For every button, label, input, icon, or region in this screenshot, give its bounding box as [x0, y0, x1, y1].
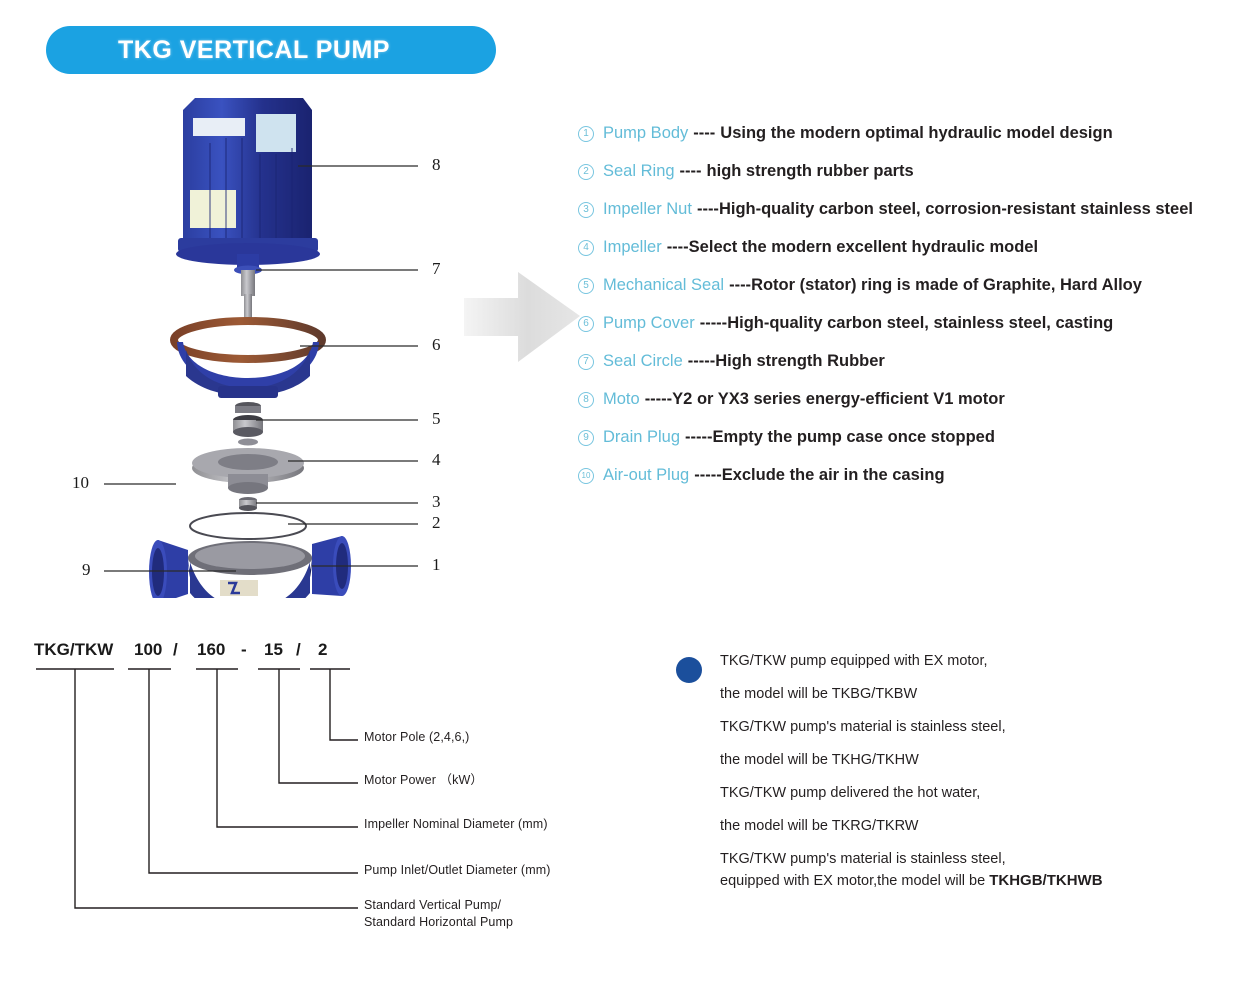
part-motor — [176, 98, 320, 265]
legend-separator-2: ---- — [680, 162, 702, 181]
callout-7: 7 — [432, 259, 441, 279]
page-title-banner: TKG VERTICAL PUMP — [46, 26, 496, 74]
legend-description-6: High-quality carbon steel, stainless ste… — [727, 314, 1113, 333]
legend-part-name-9: Drain Plug — [603, 428, 680, 447]
model-label-impeller-dia: Impeller Nominal Diameter (mm) — [364, 815, 548, 833]
note-line-8-prefix: equipped with EX motor,the model will be — [720, 873, 989, 889]
legend-item-pump-body: 1 Pump Body ---- Using the modern optima… — [578, 124, 1228, 144]
legend-number-icon-2: 2 — [578, 164, 594, 180]
part-pump-body — [149, 536, 351, 598]
callout-8: 8 — [432, 155, 441, 175]
legend-separator-3: ---- — [697, 200, 719, 219]
legend-part-name-2: Seal Ring — [603, 162, 675, 181]
legend-description-9: Empty the pump case once stopped — [713, 428, 995, 447]
legend-description-2: high strength rubber parts — [707, 162, 914, 181]
legend-item-seal-ring: 2 Seal Ring ---- high strength rubber pa… — [578, 162, 1228, 182]
legend-description-10: Exclude the air in the casing — [722, 466, 945, 485]
note-line-5: TKG/TKW pump delivered the hot water, — [720, 785, 1216, 801]
model-label-series-line1: Standard Vertical Pump/ — [364, 896, 501, 914]
part-seal-ring — [190, 513, 306, 539]
legend-part-name-1: Pump Body — [603, 124, 688, 143]
part-impeller — [192, 448, 304, 494]
legend-number-icon-8: 8 — [578, 392, 594, 408]
model-label-inlet-outlet: Pump Inlet/Outlet Diameter (mm) — [364, 861, 550, 879]
legend-part-name-10: Air-out Plug — [603, 466, 689, 485]
note-line-4: the model will be TKHG/TKHW — [720, 752, 1216, 768]
model-variant-notes: TKG/TKW pump equipped with EX motor, the… — [676, 653, 1216, 906]
legend-item-drain-plug: 9 Drain Plug ----- Empty the pump case o… — [578, 428, 1228, 448]
legend-item-seal-circle: 7 Seal Circle ----- High strength Rubber — [578, 352, 1228, 372]
legend-separator-1: ---- — [693, 124, 715, 143]
legend-item-mechanical-seal: 5 Mechanical Seal ---- Rotor (stator) ri… — [578, 276, 1228, 296]
note-line-8: equipped with EX motor,the model will be… — [720, 872, 1216, 889]
legend-part-name-8: Moto — [603, 390, 640, 409]
legend-number-icon-4: 4 — [578, 240, 594, 256]
legend-item-air-out-plug: 10 Air-out Plug ----- Exclude the air in… — [578, 466, 1228, 486]
model-leader-lines — [28, 640, 388, 940]
parts-legend: 1 Pump Body ---- Using the modern optima… — [578, 124, 1228, 504]
legend-number-icon-5: 5 — [578, 278, 594, 294]
callout-1: 1 — [432, 555, 441, 575]
legend-description-8: Y2 or YX3 series energy-efficient V1 mot… — [672, 390, 1005, 409]
legend-item-impeller-nut: 3 Impeller Nut ---- High-quality carbon … — [578, 200, 1228, 220]
legend-number-icon-10: 10 — [578, 468, 594, 484]
callout-5: 5 — [432, 409, 441, 429]
legend-separator-6: ----- — [700, 314, 727, 333]
note-line-7: TKG/TKW pump's material is stainless ste… — [720, 851, 1216, 867]
legend-number-icon-9: 9 — [578, 430, 594, 446]
legend-separator-8: ----- — [645, 390, 672, 409]
legend-description-3: High-quality carbon steel, corrosion-res… — [719, 200, 1193, 219]
note-line-6: the model will be TKRG/TKRW — [720, 818, 1216, 834]
legend-description-4: Select the modern excellent hydraulic mo… — [689, 238, 1038, 257]
callout-10: 10 — [72, 473, 89, 493]
model-designation: TKG/TKW 100 / 160 - 15 / 2 Motor Pole — [28, 640, 628, 970]
callout-6: 6 — [432, 335, 441, 355]
legend-separator-10: ----- — [694, 466, 721, 485]
legend-description-7: High strength Rubber — [715, 352, 885, 371]
part-impeller-nut — [239, 497, 257, 511]
legend-description-5: Rotor (stator) ring is made of Graphite,… — [751, 276, 1142, 295]
legend-separator-5: ---- — [729, 276, 751, 295]
note-line-1: TKG/TKW pump equipped with EX motor, — [720, 653, 1216, 669]
callout-3: 3 — [432, 492, 441, 512]
legend-part-name-5: Mechanical Seal — [603, 276, 724, 295]
callout-9: 9 — [82, 560, 91, 580]
legend-separator-7: ----- — [688, 352, 715, 371]
note-line-2: the model will be TKBG/TKBW — [720, 686, 1216, 702]
right-arrow-icon — [462, 252, 584, 380]
legend-item-moto: 8 Moto ----- Y2 or YX3 series energy-eff… — [578, 390, 1228, 410]
legend-part-name-7: Seal Circle — [603, 352, 683, 371]
legend-number-icon-3: 3 — [578, 202, 594, 218]
exploded-pump-diagram: 8 7 6 5 4 3 2 1 10 9 — [60, 88, 480, 598]
callout-2: 2 — [432, 513, 441, 533]
legend-part-name-6: Pump Cover — [603, 314, 695, 333]
part-mechanical-seal — [233, 402, 263, 446]
part-shaft-seal-circle — [234, 254, 262, 322]
legend-separator-4: ---- — [667, 238, 689, 257]
note-line-3: TKG/TKW pump's material is stainless ste… — [720, 719, 1216, 735]
model-label-series-line2: Standard Horizontal Pump — [364, 913, 513, 931]
model-label-motor-pole: Motor Pole (2,4,6,) — [364, 728, 469, 746]
pump-illustration — [60, 88, 480, 598]
note-line-8-model: TKHGB/TKHWB — [989, 872, 1102, 889]
page-title: TKG VERTICAL PUMP — [118, 36, 390, 65]
legend-part-name-4: Impeller — [603, 238, 662, 257]
legend-number-icon-1: 1 — [578, 126, 594, 142]
part-pump-cover — [174, 321, 322, 398]
legend-number-icon-7: 7 — [578, 354, 594, 370]
legend-item-pump-cover: 6 Pump Cover ----- High-quality carbon s… — [578, 314, 1228, 334]
model-label-motor-power: Motor Power （kW） — [364, 771, 483, 789]
bullet-circle-icon — [676, 657, 702, 683]
legend-description-1: Using the modern optimal hydraulic model… — [720, 124, 1112, 143]
legend-part-name-3: Impeller Nut — [603, 200, 692, 219]
callout-4: 4 — [432, 450, 441, 470]
legend-number-icon-6: 6 — [578, 316, 594, 332]
legend-separator-9: ----- — [685, 428, 712, 447]
legend-item-impeller: 4 Impeller ---- Select the modern excell… — [578, 238, 1228, 258]
